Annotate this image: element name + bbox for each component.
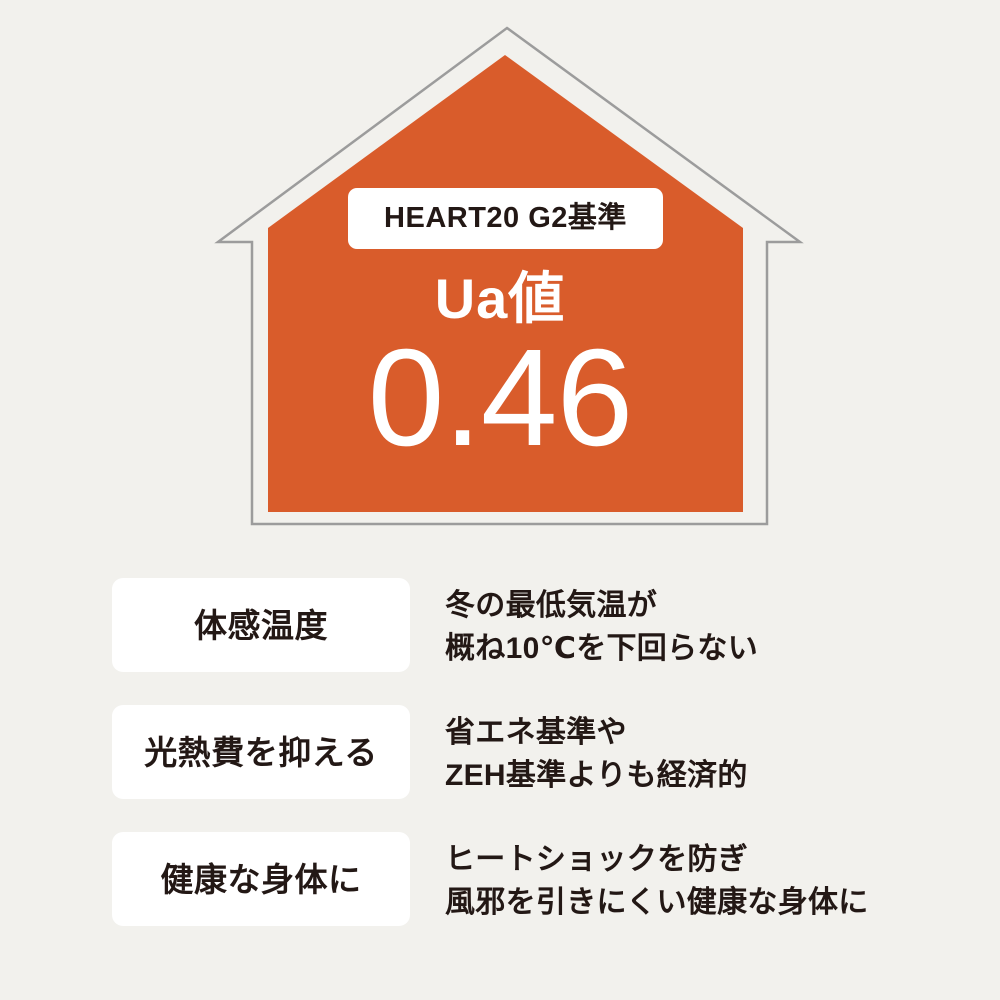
feature-description: 冬の最低気温が 概ね10℃を下回らない [445,578,758,672]
feature-chip-taikan-ondo: 体感温度 [112,578,410,672]
standard-badge-label: HEART20 G2基準 [384,204,627,233]
feature-description-line-1: ヒートショックを防ぎ [445,839,869,882]
feature-chip-label: 健康な身体に [161,863,362,896]
feature-description-line-2: 風邪を引きにくい健康な身体に [445,882,869,925]
house-fill-path [268,55,743,512]
feature-row: 体感温度 冬の最低気温が 概ね10℃を下回らない [0,578,1000,672]
feature-chip-kenkou-karada: 健康な身体に [112,832,410,926]
feature-row: 健康な身体に ヒートショックを防ぎ 風邪を引きにくい健康な身体に [0,832,1000,926]
feature-description: 省エネ基準や ZEH基準よりも経済的 [445,705,748,799]
feature-description-line-1: 省エネ基準や [445,712,748,755]
feature-description-line-2: 概ね10℃を下回らない [445,628,758,671]
page-root: HEART20 G2基準 Ua値 0.46 体感温度 冬の最低気温が 概ね10℃… [0,0,1000,1000]
feature-list: 体感温度 冬の最低気温が 概ね10℃を下回らない 光熱費を抑える 省エネ基準や … [0,578,1000,959]
feature-description: ヒートショックを防ぎ 風邪を引きにくい健康な身体に [445,832,869,926]
feature-description-line-1: 冬の最低気温が [445,585,758,628]
house-graphic: HEART20 G2基準 Ua値 0.46 [0,0,1000,545]
feature-row: 光熱費を抑える 省エネ基準や ZEH基準よりも経済的 [0,705,1000,799]
feature-chip-label: 体感温度 [194,609,328,642]
feature-chip-label: 光熱費を抑える [144,736,378,769]
house-shape-icon [0,0,1000,545]
feature-description-line-2: ZEH基準よりも経済的 [445,755,748,798]
standard-badge: HEART20 G2基準 [348,188,663,249]
feature-chip-konetsuhi: 光熱費を抑える [112,705,410,799]
